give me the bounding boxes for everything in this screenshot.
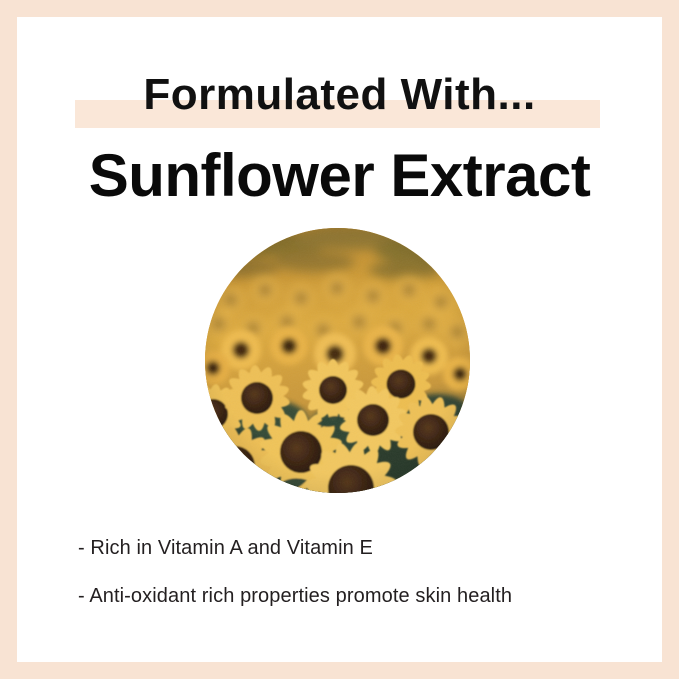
list-item: - Rich in Vitamin A and Vitamin E [78, 535, 648, 561]
eyebrow-heading: Formulated With... [17, 64, 662, 126]
sunflower-field-photo [205, 228, 470, 493]
product-infographic-page: Formulated With... Sunflower Extract [0, 0, 679, 679]
content-card: Formulated With... Sunflower Extract [17, 17, 662, 662]
benefits-list: - Rich in Vitamin A and Vitamin E - Anti… [78, 535, 648, 609]
page-title: Sunflower Extract [17, 140, 662, 212]
eyebrow-heading-group: Formulated With... [17, 64, 662, 132]
list-item: - Anti-oxidant rich properties promote s… [78, 583, 648, 609]
